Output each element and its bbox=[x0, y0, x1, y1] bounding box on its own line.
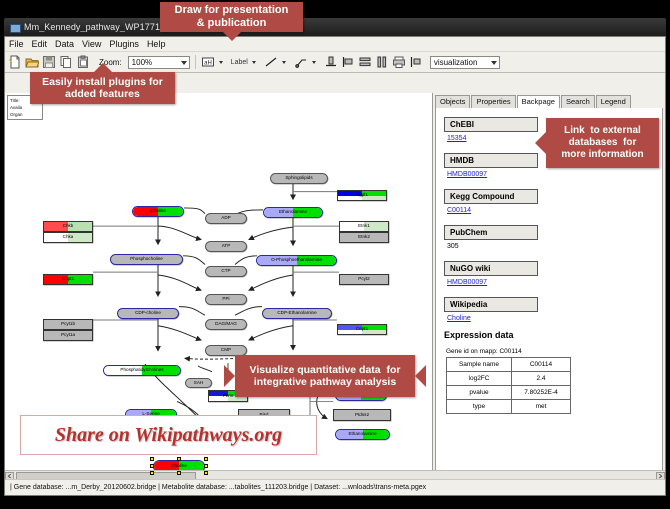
node-chka[interactable]: Chka bbox=[43, 232, 93, 243]
node-label: SAH bbox=[194, 381, 203, 386]
pathway-info-line-availability: Availa bbox=[10, 104, 40, 111]
cell-key: log2FC bbox=[447, 372, 512, 386]
share-callout-text: Share on Wikipathways.org bbox=[55, 424, 282, 447]
open-file-icon[interactable] bbox=[25, 55, 39, 69]
menu-item-view[interactable]: View bbox=[82, 39, 101, 49]
node-pcyt1b[interactable]: Pcyt1b bbox=[43, 319, 93, 330]
table-row: Sample name C00114 bbox=[447, 358, 571, 372]
selection-handle-n[interactable] bbox=[177, 457, 181, 461]
node-ethanolamine-bottom[interactable]: Ethanolamine bbox=[335, 429, 390, 440]
zoom-combobox[interactable]: 100% bbox=[128, 56, 190, 69]
visualize-callout: Visualize quantitative data forintegrati… bbox=[235, 355, 415, 397]
tab-legend[interactable]: Legend bbox=[596, 95, 631, 108]
sidebar-tab-bar[interactable]: Objects Properties Backpage Search Legen… bbox=[435, 95, 663, 109]
cell-value: C00114 bbox=[512, 358, 571, 372]
tab-properties[interactable]: Properties bbox=[471, 95, 515, 108]
links-callout: Link to externaldatabases formore inform… bbox=[546, 118, 659, 168]
node-sah[interactable]: SAH bbox=[185, 378, 212, 388]
interaction-tool-icon[interactable] bbox=[294, 55, 308, 69]
node-etnk1[interactable]: Etnk1 bbox=[339, 221, 389, 232]
cell-key: type bbox=[447, 400, 512, 414]
db-header-kegg-compound: Kegg Compound bbox=[444, 189, 538, 204]
node-dag-mag[interactable]: DAG/MAG bbox=[205, 319, 247, 330]
menu-bar[interactable]: File Edit Data View Plugins Help bbox=[5, 37, 665, 52]
node-label: Ptdss2 bbox=[355, 413, 369, 418]
db-value-pubchem: 305 bbox=[447, 243, 656, 250]
menu-item-edit[interactable]: Edit bbox=[32, 39, 48, 49]
gene-id-on-mapp: Gene id on mapp: C00114 bbox=[446, 348, 656, 355]
node-label: CMP bbox=[221, 348, 231, 353]
node-label: Chkb bbox=[63, 224, 74, 229]
node-label: Etnk1 bbox=[358, 224, 370, 229]
selection-handle-ne[interactable] bbox=[204, 457, 208, 461]
node-label: Ethanolamine bbox=[279, 210, 307, 215]
node-phosphocholine[interactable]: Phosphocholine bbox=[110, 254, 183, 265]
selection-handle-sw[interactable] bbox=[150, 471, 154, 475]
status-bar-text: | Gene database: ...m_Derby_20120602.bri… bbox=[5, 484, 426, 491]
visualization-value: visualization bbox=[434, 58, 478, 67]
menu-item-file[interactable]: File bbox=[9, 39, 24, 49]
menu-item-plugins[interactable]: Plugins bbox=[109, 39, 139, 49]
node-label: Ethanolamine bbox=[348, 432, 376, 437]
cell-key: Sample name bbox=[447, 358, 512, 372]
table-row: type met bbox=[447, 400, 571, 414]
selection-handle-e[interactable] bbox=[204, 464, 208, 468]
node-label: ATP bbox=[222, 244, 231, 249]
db-header-wikipedia: Wikipedia bbox=[444, 297, 538, 312]
node-label: Sphingolipids bbox=[285, 176, 312, 181]
node-label: Phosphatidylcholines bbox=[120, 368, 163, 373]
node-sphingolipids[interactable]: Sphingolipids bbox=[270, 173, 328, 184]
node-label: Pcyt1b bbox=[61, 322, 75, 327]
pathvisio-app-icon bbox=[9, 22, 20, 33]
visualize-callout-text: Visualize quantitative data forintegrati… bbox=[250, 364, 401, 389]
node-label: ADP bbox=[221, 216, 230, 221]
node-label: Etnk2 bbox=[358, 235, 370, 240]
node-label: O-Phosphoethanolamine bbox=[271, 258, 322, 263]
new-file-icon[interactable] bbox=[8, 55, 22, 69]
db-link-kegg-compound[interactable]: C00114 bbox=[447, 207, 656, 214]
node-label: Pcyt1a bbox=[61, 333, 75, 338]
print-icon[interactable] bbox=[392, 55, 406, 69]
plugins-callout-text: Easily install plugins foradded features bbox=[42, 76, 163, 101]
chevron-down-icon bbox=[491, 61, 497, 65]
chevron-down-icon bbox=[181, 61, 187, 65]
table-row: log2FC 2.4 bbox=[447, 372, 571, 386]
node-atp[interactable]: ATP bbox=[205, 241, 247, 252]
status-bar: | Gene database: ...m_Derby_20120602.bri… bbox=[5, 479, 665, 495]
screenshot-root: Mm_Kennedy_pathway_WP1771_45176.gpml Fil… bbox=[0, 0, 670, 509]
node-chpt1[interactable]: Chpt1 bbox=[43, 274, 93, 285]
node-sgpl1[interactable]: Sgpl1 bbox=[337, 190, 387, 201]
distribute-icon[interactable] bbox=[409, 55, 423, 69]
share-callout: Share on Wikipathways.org bbox=[20, 415, 317, 455]
paste-icon[interactable] bbox=[76, 55, 90, 69]
label-tool-label[interactable]: Label bbox=[231, 59, 248, 66]
menu-item-help[interactable]: Help bbox=[147, 39, 166, 49]
expression-data-title: Expression data bbox=[444, 330, 656, 340]
selection-handle-s[interactable] bbox=[177, 471, 181, 475]
db-link-hmdb[interactable]: HMDB00097 bbox=[447, 171, 656, 178]
node-label: CDP-choline bbox=[135, 311, 161, 316]
db-link-nugo-wiki[interactable]: HMDB00097 bbox=[447, 279, 656, 286]
node-label: PPi bbox=[222, 297, 229, 302]
selection-handle-se[interactable] bbox=[204, 471, 208, 475]
node-ctp[interactable]: CTP bbox=[205, 266, 247, 277]
stack-vertical-icon[interactable] bbox=[358, 55, 372, 69]
node-label: Pcyt2 bbox=[358, 277, 370, 282]
node-etnk2[interactable]: Etnk2 bbox=[339, 232, 389, 243]
selection-handle-w[interactable] bbox=[150, 464, 154, 468]
window-title-bar: Mm_Kennedy_pathway_WP1771_45176.gpml bbox=[4, 18, 666, 36]
copy-icon[interactable] bbox=[59, 55, 73, 69]
toolbar-separator bbox=[195, 55, 196, 69]
node-cdp-ethanolamine[interactable]: CDP-Ethanolamine bbox=[262, 308, 332, 319]
node-adp[interactable]: ADP bbox=[205, 213, 247, 224]
db-link-wikipedia[interactable]: Choline bbox=[447, 315, 656, 322]
datanode-dropdown-arrow-icon[interactable] bbox=[219, 61, 223, 64]
tab-backpage[interactable]: Backpage bbox=[517, 95, 560, 109]
zoom-value: 100% bbox=[132, 58, 152, 67]
selection-handle-nw[interactable] bbox=[150, 457, 154, 461]
db-header-nugo-wiki: NuGO wiki bbox=[444, 261, 538, 276]
pathway-info-line-organism: Organ bbox=[10, 111, 40, 118]
cell-value: 2.4 bbox=[512, 372, 571, 386]
interaction-dropdown-arrow-icon[interactable] bbox=[312, 61, 316, 64]
plugins-callout: Easily install plugins foradded features bbox=[30, 72, 175, 104]
draw-callout: Draw for presentation& publication bbox=[160, 2, 303, 32]
node-label: Chka bbox=[63, 235, 74, 240]
node-label: Pemt bbox=[223, 394, 234, 399]
line-dropdown-arrow-icon[interactable] bbox=[282, 61, 286, 64]
node-label: Chpt1 bbox=[62, 277, 74, 282]
node-cept1[interactable]: Cept1 bbox=[337, 324, 387, 335]
label-dropdown-arrow-icon[interactable] bbox=[252, 61, 256, 64]
node-choline-top[interactable]: Choline bbox=[132, 206, 184, 217]
node-phosphatidylcholines[interactable]: Phosphatidylcholines bbox=[103, 365, 181, 376]
same-width-icon[interactable] bbox=[375, 55, 389, 69]
node-label: Choline bbox=[150, 209, 166, 214]
node-ppi[interactable]: PPi bbox=[205, 294, 247, 305]
align-top-icon[interactable] bbox=[324, 55, 338, 69]
visualization-combobox[interactable]: visualization bbox=[430, 56, 500, 69]
db-header-pubchem: PubChem bbox=[444, 225, 538, 240]
db-header-chebi: ChEBI bbox=[444, 117, 538, 132]
node-label: CDP-Ethanolamine bbox=[277, 311, 316, 316]
draw-callout-text: Draw for presentation& publication bbox=[175, 4, 289, 30]
node-o-phosphoethanolamine[interactable]: O-Phosphoethanolamine bbox=[256, 255, 337, 266]
tab-search[interactable]: Search bbox=[561, 95, 595, 108]
node-pcyt1a[interactable]: Pcyt1a bbox=[43, 330, 93, 341]
expression-data-table: Sample name C00114 log2FC 2.4 pvalue 7.8… bbox=[446, 357, 571, 414]
links-callout-text: Link to externaldatabases formore inform… bbox=[561, 125, 643, 160]
datanode-tool-icon[interactable]: aH bbox=[201, 55, 215, 69]
line-tool-icon[interactable] bbox=[264, 55, 278, 69]
node-cdp-choline[interactable]: CDP-choline bbox=[117, 308, 179, 319]
cell-value: met bbox=[512, 400, 571, 414]
node-chkb[interactable]: Chkb bbox=[43, 221, 93, 232]
node-label: Cept1 bbox=[356, 327, 368, 332]
node-ethanolamine-top[interactable]: Ethanolamine bbox=[263, 207, 323, 218]
align-left-icon[interactable] bbox=[341, 55, 355, 69]
node-label: Phosphocholine bbox=[130, 257, 163, 262]
node-pcyt2[interactable]: Pcyt2 bbox=[339, 274, 389, 285]
cell-value: 7.80252E-4 bbox=[512, 386, 571, 400]
menu-item-data[interactable]: Data bbox=[55, 39, 74, 49]
node-ptdss2[interactable]: Ptdss2 bbox=[333, 409, 391, 421]
save-file-icon[interactable] bbox=[42, 55, 56, 69]
table-row: pvalue 7.80252E-4 bbox=[447, 386, 571, 400]
cell-key: pvalue bbox=[447, 386, 512, 400]
node-label: Choline bbox=[171, 464, 187, 469]
db-header-hmdb: HMDB bbox=[444, 153, 538, 168]
node-label: Sgpl1 bbox=[356, 193, 368, 198]
node-label: CTP bbox=[221, 269, 230, 274]
svg-text:aH: aH bbox=[204, 60, 212, 66]
node-label: DAG/MAG bbox=[215, 322, 237, 327]
tab-objects[interactable]: Objects bbox=[435, 95, 470, 108]
